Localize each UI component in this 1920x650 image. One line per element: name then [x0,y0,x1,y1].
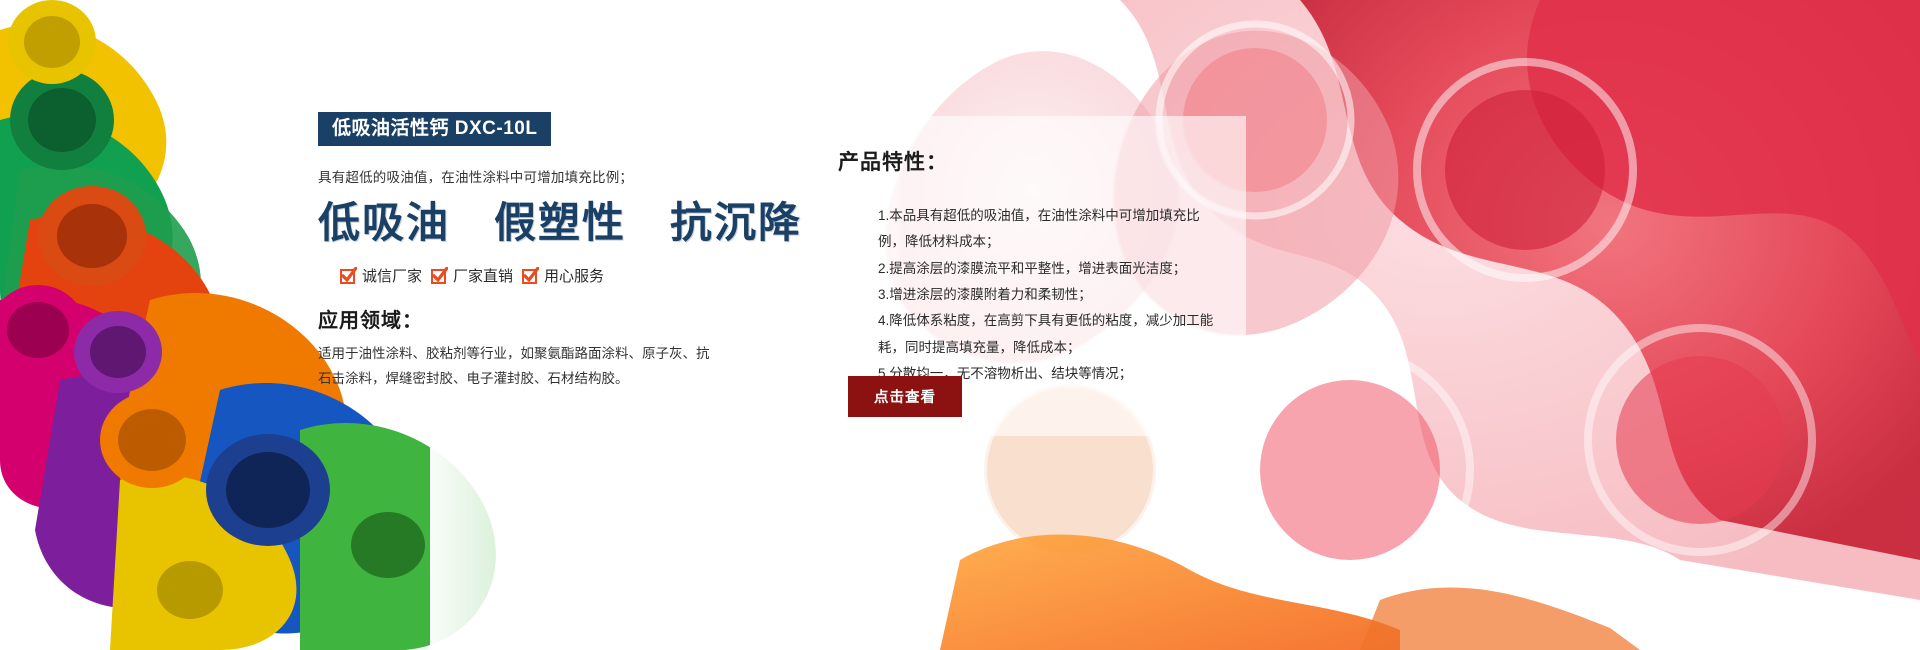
product-banner: 低吸油活性钙 DXC-10L 具有超低的吸油值，在油性涂料中可增加填充比例； 低… [0,0,1920,650]
product-features-panel-inner: 产品特性： 1.本品具有超低的吸油值，在油性涂料中可增加填充比例，降低材料成本；… [838,146,1222,403]
feature-badge-2: 用心服务 [522,265,604,286]
panel-heading: 产品特性： [838,146,1222,176]
feature-list: 1.本品具有超低的吸油值，在油性涂料中可增加填充比例，降低材料成本； 2.提高涂… [838,203,1222,387]
banner-content: 低吸油活性钙 DXC-10L 具有超低的吸油值，在油性涂料中可增加填充比例； 低… [318,112,738,392]
list-item: 4.降低体系粘度，在高剪下具有更低的粘度，减少加工能耗，同时提高填充量，降低成本… [878,308,1222,361]
view-details-button[interactable]: 点击查看 [848,376,962,417]
checkbox-checked-icon [340,267,357,284]
feature-badge-label: 厂家直销 [453,265,513,286]
feature-badge-0: 诚信厂家 [340,265,422,286]
feature-badge-label: 诚信厂家 [362,265,422,286]
feature-badge-1: 厂家直销 [431,265,513,286]
feature-badge-label: 用心服务 [544,265,604,286]
checkbox-checked-icon [431,267,448,284]
checkbox-checked-icon [522,267,539,284]
feature-badge-row: 诚信厂家 厂家直销 用心服务 [318,265,738,286]
product-headline: 低吸油 假塑性 抗沉降 [318,201,738,247]
list-item: 2.提高涂层的漆膜流平和平整性，增进表面光洁度； [878,256,1222,282]
list-item: 3.增进涂层的漆膜附着力和柔韧性； [878,282,1222,308]
application-body: 适用于油性涂料、胶粘剂等行业，如聚氨酯路面涂料、原子灰、抗石击涂料，焊缝密封胶、… [318,342,718,392]
list-item: 1.本品具有超低的吸油值，在油性涂料中可增加填充比例，降低材料成本； [878,203,1222,256]
application-heading: 应用领域： [318,304,738,333]
product-subtitle: 具有超低的吸油值，在油性涂料中可增加填充比例； [318,168,738,188]
product-title-badge: 低吸油活性钙 DXC-10L [318,112,551,146]
